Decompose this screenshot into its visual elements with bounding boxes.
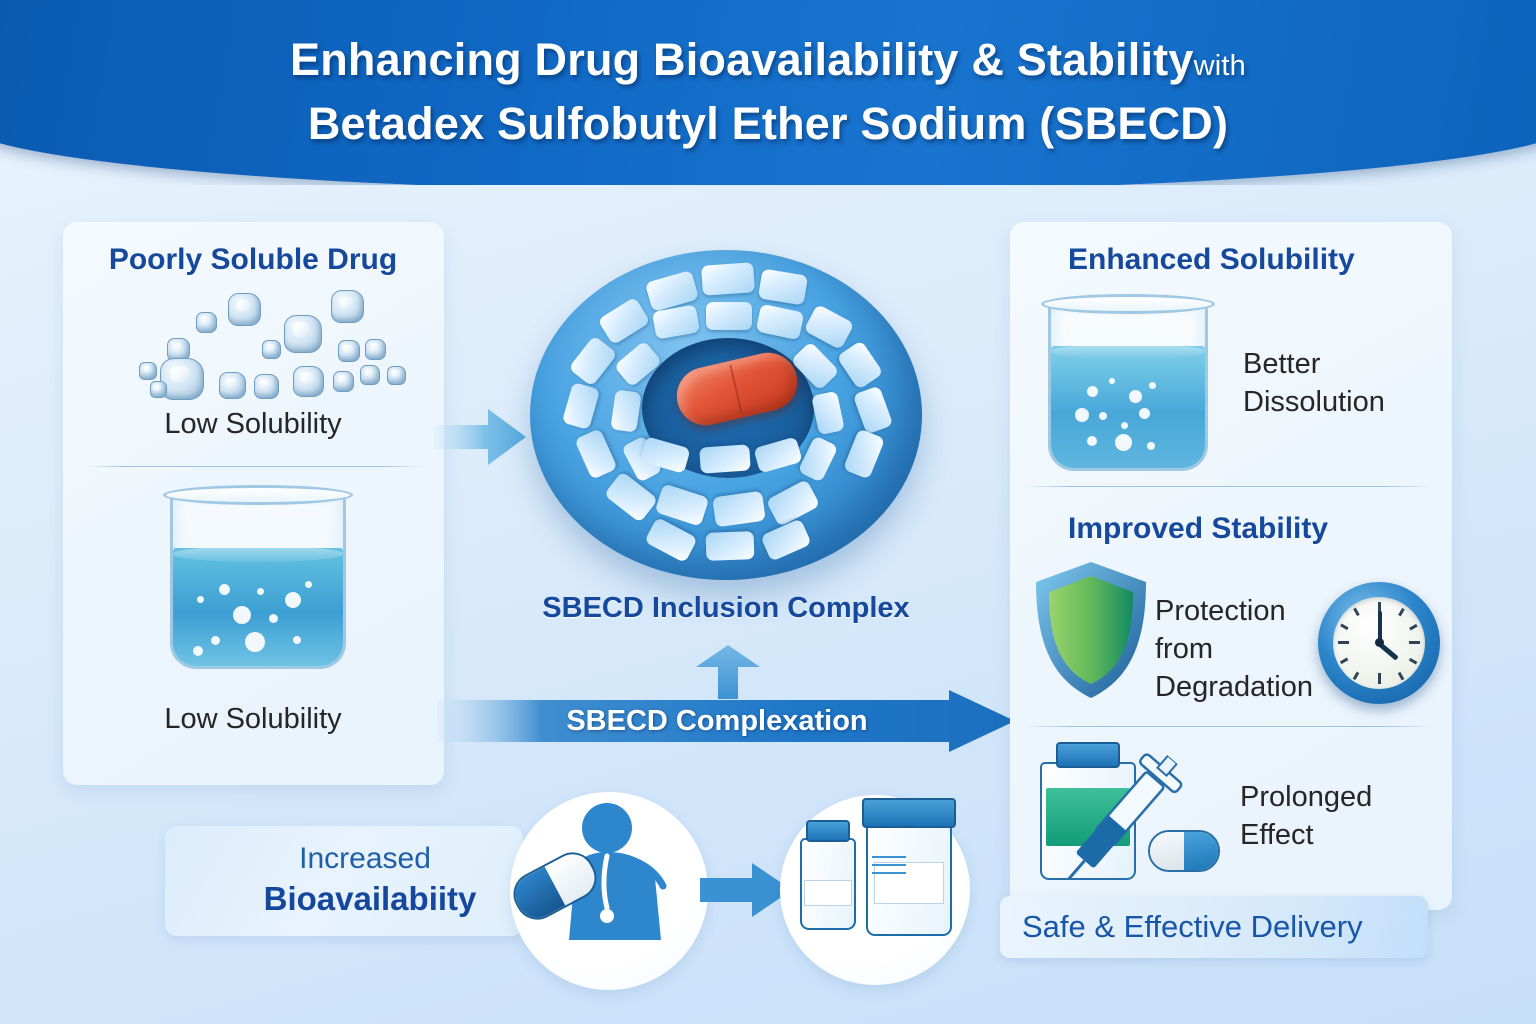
beaker-icon-enhanced-solubility <box>1048 303 1208 471</box>
left-panel-title: Poorly Soluble Drug <box>88 243 418 277</box>
page-title-line-1: Enhancing Drug Bioavailability & Stabili… <box>290 32 1246 94</box>
header-banner: Enhancing Drug Bioavailability & Stabili… <box>0 0 1536 185</box>
cyclodextrin-torus-icon <box>530 250 922 580</box>
right-arrow-icon-to-complex <box>434 405 526 469</box>
clock-icon <box>1318 582 1440 704</box>
capsule-icon-prolonged <box>1148 830 1220 872</box>
complexation-arrow <box>437 690 1015 752</box>
right-arrow-icon-to-vials <box>700 860 792 920</box>
bioavailability-line2: Bioavailabiity <box>225 880 515 918</box>
left-beaker-caption: Low Solubility <box>88 700 418 738</box>
page-title-with: with <box>1194 50 1246 82</box>
page-title-main: Enhancing Drug Bioavailability & Stabili… <box>290 34 1194 85</box>
bioavailability-line1: Increased <box>265 842 465 876</box>
left-panel-divider <box>86 466 422 467</box>
shield-icon <box>1032 560 1150 700</box>
better-dissolution-caption: Better Dissolution <box>1243 345 1443 421</box>
right-divider-2 <box>1022 726 1434 727</box>
right-divider-1 <box>1022 486 1434 487</box>
beaker-icon-low-solubility <box>170 494 346 669</box>
protection-caption: Protection from Degradation <box>1155 592 1325 706</box>
left-crystals-caption: Low Solubility <box>88 405 418 443</box>
prolonged-effect-caption: Prolonged Effect <box>1240 778 1440 854</box>
enhanced-solubility-title: Enhanced Solubility <box>1068 243 1355 277</box>
page-title-line-2: Betadex Sulfobutyl Ether Sodium (SBECD) <box>308 94 1228 154</box>
complex-label: SBECD Inclusion Complex <box>530 592 922 625</box>
improved-stability-title: Improved Stability <box>1068 512 1328 546</box>
safe-delivery-label: Safe & Effective Delivery <box>1022 896 1363 958</box>
